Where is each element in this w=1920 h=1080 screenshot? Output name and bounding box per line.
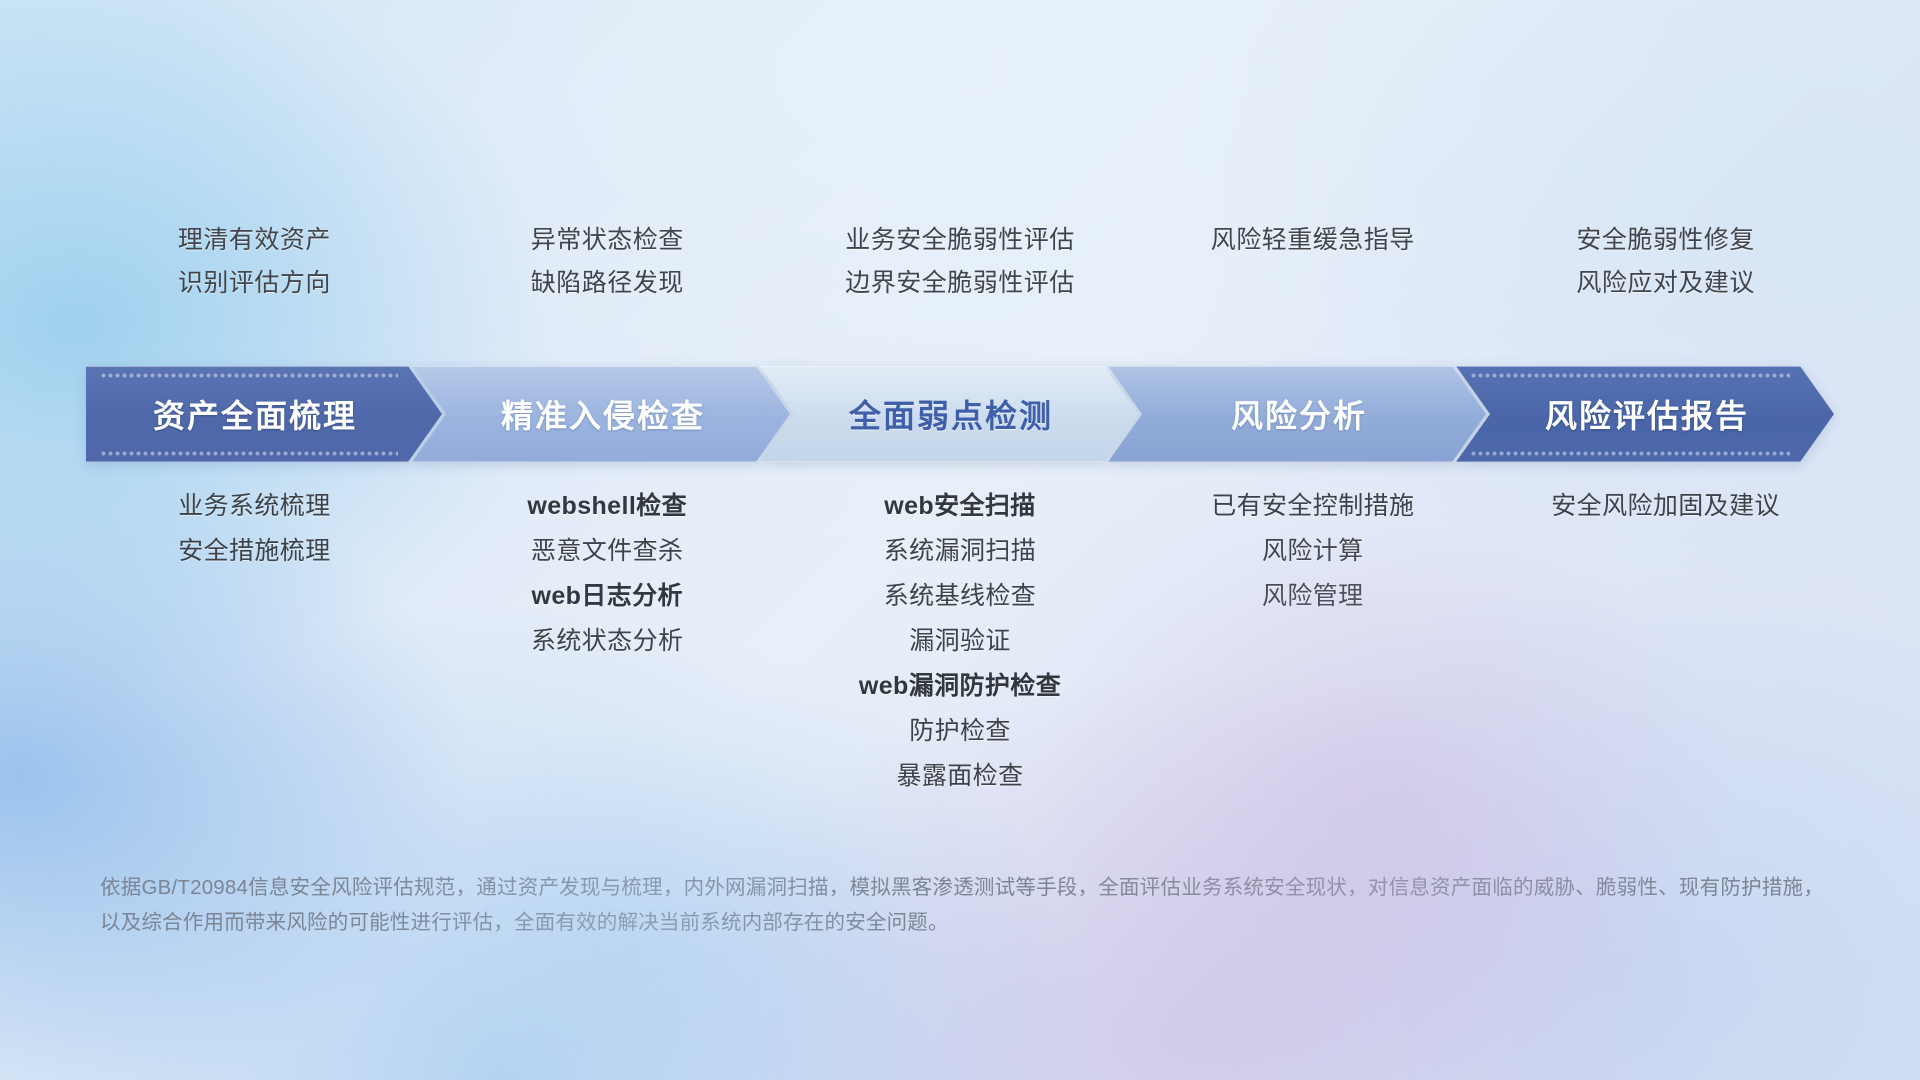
process-chevron-band: 资产全面梳理 精准入侵检查 全面弱点检测 风险分析 风险评估报告 (86, 366, 1834, 462)
detail-item: 防护检查 (784, 717, 1137, 745)
top-annotations-risk-analysis: 风险轻重缓急指导 (1136, 228, 1489, 296)
detail-item: 系统基线检查 (784, 582, 1137, 610)
detail-list-intrusion-check: webshell检查 恶意文件查杀 web日志分析 系统状态分析 (431, 492, 784, 790)
footer-description: 依据GB/T20984信息安全风险评估规范，通过资产发现与梳理，内外网漏洞扫描，… (100, 870, 1824, 941)
chevron-label: 精准入侵检查 (434, 391, 790, 437)
detail-item: 安全风险加固及建议 (1489, 492, 1842, 520)
top-annotation-item: 缺陷路径发现 (431, 271, 784, 296)
detail-item: 风险管理 (1136, 582, 1489, 610)
chevron-label: 风险评估报告 (1478, 391, 1834, 437)
detail-list-risk-report: 安全风险加固及建议 (1489, 492, 1842, 790)
footer-paragraph: 依据GB/T20984信息安全风险评估规范，通过资产发现与梳理，内外网漏洞扫描，… (100, 870, 1824, 941)
detail-item: web漏洞防护检查 (784, 672, 1137, 700)
top-annotation-item: 识别评估方向 (78, 271, 431, 296)
detail-item: 恶意文件查杀 (431, 537, 784, 565)
bottom-detail-row: 业务系统梳理 安全措施梳理 webshell检查 恶意文件查杀 web日志分析 … (0, 492, 1920, 790)
detail-item: 已有安全控制措施 (1136, 492, 1489, 520)
top-annotations-asset-inventory: 理清有效资产 识别评估方向 (78, 228, 431, 296)
detail-item: 漏洞验证 (784, 627, 1137, 655)
detail-item: 系统状态分析 (431, 627, 784, 655)
top-annotation-item: 业务安全脆弱性评估 (784, 228, 1137, 253)
top-annotations-row: 理清有效资产 识别评估方向 异常状态检查 缺陷路径发现 业务安全脆弱性评估 边界… (0, 228, 1920, 296)
chevron-stage-weakness-detection[interactable]: 全面弱点检测 (760, 366, 1138, 462)
top-annotations-intrusion-check: 异常状态检查 缺陷路径发现 (431, 228, 784, 296)
chevron-stage-risk-analysis[interactable]: 风险分析 (1108, 366, 1486, 462)
top-annotation-item: 安全脆弱性修复 (1489, 228, 1842, 253)
detail-item: webshell检查 (431, 492, 784, 520)
chevron-stage-asset-inventory[interactable]: 资产全面梳理 (86, 366, 442, 462)
top-annotation-item: 理清有效资产 (78, 228, 431, 253)
process-diagram-canvas: 理清有效资产 识别评估方向 异常状态检查 缺陷路径发现 业务安全脆弱性评估 边界… (0, 0, 1920, 1080)
top-annotation-item: 异常状态检查 (431, 228, 784, 253)
detail-item: 系统漏洞扫描 (784, 537, 1137, 565)
top-annotation-item: 风险应对及建议 (1489, 271, 1842, 296)
detail-item: web日志分析 (431, 582, 784, 610)
chevron-label: 风险分析 (1130, 391, 1486, 437)
detail-item: 安全措施梳理 (78, 537, 431, 565)
detail-list-risk-analysis: 已有安全控制措施 风险计算 风险管理 (1136, 492, 1489, 790)
detail-item: 暴露面检查 (784, 762, 1137, 790)
dot-texture-icon (1470, 450, 1790, 456)
detail-item: 风险计算 (1136, 537, 1489, 565)
detail-item: web安全扫描 (784, 492, 1137, 520)
top-annotations-risk-report: 安全脆弱性修复 风险应对及建议 (1489, 228, 1842, 296)
dot-texture-icon (1470, 372, 1790, 378)
chevron-label: 资产全面梳理 (86, 391, 442, 437)
detail-item: 业务系统梳理 (78, 492, 431, 520)
top-annotation-item: 风险轻重缓急指导 (1136, 228, 1489, 253)
detail-list-asset-inventory: 业务系统梳理 安全措施梳理 (78, 492, 431, 790)
chevron-stage-intrusion-check[interactable]: 精准入侵检查 (412, 366, 790, 462)
chevron-stage-risk-report[interactable]: 风险评估报告 (1456, 366, 1834, 462)
top-annotation-item: 边界安全脆弱性评估 (784, 271, 1137, 296)
dot-texture-icon (100, 372, 398, 378)
top-annotations-weakness-detection: 业务安全脆弱性评估 边界安全脆弱性评估 (784, 228, 1137, 296)
detail-list-weakness-detection: web安全扫描 系统漏洞扫描 系统基线检查 漏洞验证 web漏洞防护检查 防护检… (784, 492, 1137, 790)
chevron-label: 全面弱点检测 (782, 391, 1138, 437)
dot-texture-icon (100, 450, 398, 456)
